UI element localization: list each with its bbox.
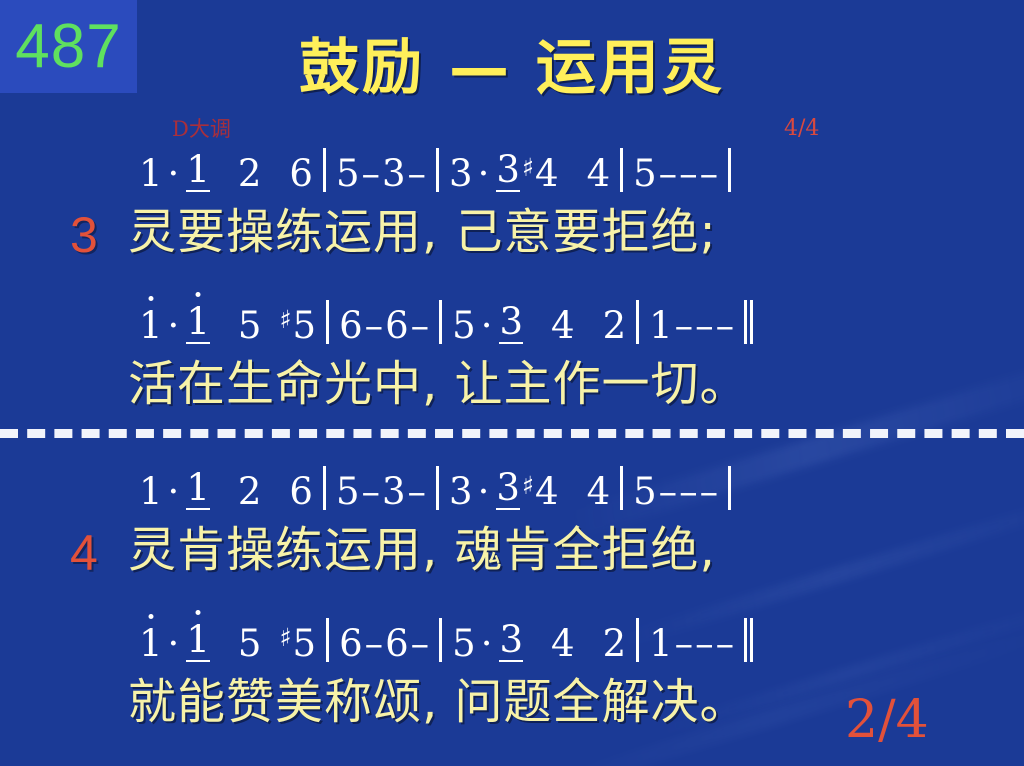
note-glyph: 3: [382, 155, 406, 192]
note: –: [678, 155, 699, 192]
measure: 5·342: [451, 621, 627, 662]
note: 3: [448, 155, 474, 192]
note: 5: [451, 307, 477, 344]
note-glyph: ·: [478, 155, 490, 192]
note: 4: [586, 155, 612, 192]
note: –: [699, 155, 720, 192]
barline: [620, 466, 623, 510]
note: 4: [550, 307, 576, 344]
measure: 5–––: [632, 155, 719, 192]
note-glyph: –: [716, 625, 735, 662]
note-glyph: –: [362, 155, 381, 192]
dot-separator: ·: [164, 625, 186, 662]
barline: [728, 148, 731, 192]
note-glyph: 3: [449, 473, 473, 510]
note: 3: [498, 621, 524, 662]
note-glyph: 6: [339, 307, 363, 344]
note-glyph: –: [679, 155, 698, 192]
note-glyph: 6: [339, 625, 363, 662]
note-glyph: 1: [649, 307, 673, 344]
note-glyph: 1: [139, 307, 163, 344]
barline: [636, 618, 639, 662]
barline: [326, 300, 329, 344]
barline: [439, 300, 442, 344]
note-glyph: –: [365, 307, 384, 344]
dot-separator: ·: [164, 307, 186, 344]
note-glyph: –: [659, 155, 678, 192]
note: 6: [338, 307, 364, 344]
note: 1: [138, 155, 164, 192]
note-glyph: –: [700, 155, 719, 192]
note: –: [407, 155, 428, 192]
measure: 6–6–: [338, 625, 430, 662]
measure: 3·3♯44: [448, 151, 611, 192]
hymn-slide: 487 鼓励 — 运用灵 D大调 4/4 2/4 1·1265–3–3·3♯44…: [0, 0, 1024, 766]
note-glyph: 4: [587, 155, 611, 192]
dot-separator: ·: [474, 473, 496, 510]
page-title: 鼓励 — 运用灵: [0, 38, 1024, 98]
note-glyph: –: [675, 625, 694, 662]
measure: 6–6–: [338, 307, 430, 344]
measure: 5–––: [632, 473, 719, 510]
note: –: [678, 473, 699, 510]
note: –: [407, 473, 428, 510]
time-signature: 4/4: [784, 116, 819, 141]
note-glyph: –: [659, 473, 678, 510]
note-glyph: –: [362, 473, 381, 510]
note: –: [694, 307, 715, 344]
note: ♯4: [521, 473, 560, 510]
note-glyph: 1: [139, 473, 163, 510]
barline: [326, 618, 329, 662]
note: 1: [185, 621, 211, 662]
final-barline: [744, 300, 753, 344]
note-glyph: 1: [186, 151, 210, 192]
note: –: [364, 307, 385, 344]
barline: [436, 148, 439, 192]
note: 1: [138, 473, 164, 510]
note-glyph: 6: [385, 625, 409, 662]
note-glyph: 4: [535, 155, 559, 192]
dot-separator: ·: [477, 625, 499, 662]
note: –: [361, 473, 382, 510]
note: 4: [586, 473, 612, 510]
note-glyph: –: [675, 307, 694, 344]
barline: [323, 466, 326, 510]
note-glyph: 1: [186, 303, 210, 344]
note-glyph: 5: [633, 473, 657, 510]
note-glyph: –: [408, 155, 427, 192]
note-glyph: 5: [238, 307, 262, 344]
note-glyph: 4: [551, 625, 575, 662]
note: –: [410, 307, 431, 344]
note-glyph: 5: [633, 155, 657, 192]
note: 2: [602, 307, 628, 344]
note: 5: [237, 625, 263, 662]
note-glyph: –: [716, 307, 735, 344]
note-glyph: 4: [535, 473, 559, 510]
dot-separator: ·: [474, 155, 496, 192]
note: –: [715, 307, 736, 344]
note-glyph: –: [411, 625, 430, 662]
note: 3: [495, 151, 521, 192]
note-glyph: ·: [478, 473, 490, 510]
note-glyph: ·: [481, 307, 493, 344]
note: 5: [335, 155, 361, 192]
note-glyph: ·: [481, 625, 493, 662]
lyric-line: 灵要操练运用, 己意要拒绝;: [128, 208, 717, 256]
note: –: [715, 625, 736, 662]
barline: [436, 466, 439, 510]
note-glyph: 5: [336, 473, 360, 510]
verse-divider: [0, 429, 1024, 438]
note-glyph: ·: [168, 307, 180, 344]
measure: 1·15♯5: [138, 303, 317, 344]
note-glyph: 3: [449, 155, 473, 192]
note-glyph: 2: [238, 155, 262, 192]
sharp-icon: ♯: [522, 153, 534, 182]
note-glyph: 5: [452, 625, 476, 662]
note-glyph: 3: [496, 151, 520, 192]
note-glyph: 3: [499, 303, 523, 344]
note-glyph: –: [700, 473, 719, 510]
note: 6: [384, 307, 410, 344]
note-glyph: –: [679, 473, 698, 510]
note-glyph: –: [408, 473, 427, 510]
note: –: [361, 155, 382, 192]
page-indicator: 2/4: [845, 694, 929, 746]
note: 4: [550, 625, 576, 662]
measure: 5–3–: [335, 155, 427, 192]
note-glyph: 1: [139, 625, 163, 662]
note-glyph: 4: [587, 473, 611, 510]
note: 1: [648, 307, 674, 344]
note-glyph: –: [365, 625, 384, 662]
verse-number: 3: [70, 210, 98, 260]
note: –: [658, 473, 679, 510]
note: –: [410, 625, 431, 662]
note: 2: [237, 155, 263, 192]
note: 1: [185, 303, 211, 344]
measure: 5·342: [451, 303, 627, 344]
note: –: [674, 307, 695, 344]
note: 1: [185, 469, 211, 510]
note-glyph: 3: [382, 473, 406, 510]
measure: 1·15♯5: [138, 621, 317, 662]
note: –: [699, 473, 720, 510]
barline: [439, 618, 442, 662]
note: 1: [648, 625, 674, 662]
note: 5: [632, 473, 658, 510]
note-glyph: 1: [649, 625, 673, 662]
sharp-icon: ♯: [279, 623, 291, 652]
note: –: [658, 155, 679, 192]
measure: 3·3♯44: [448, 469, 611, 510]
dot-separator: ·: [164, 155, 186, 192]
note: 6: [288, 473, 314, 510]
measure: 1·126: [138, 151, 314, 192]
note: 6: [384, 625, 410, 662]
note: 2: [602, 625, 628, 662]
note: –: [364, 625, 385, 662]
verse-number: 4: [70, 528, 98, 578]
note: 1: [185, 151, 211, 192]
key-signature: D大调: [172, 113, 231, 143]
note-glyph: –: [695, 625, 714, 662]
note-glyph: 5: [293, 307, 317, 344]
note-glyph: 5: [293, 625, 317, 662]
octave-dot-icon: [196, 292, 201, 297]
note-glyph: 4: [551, 307, 575, 344]
barline: [728, 466, 731, 510]
octave-dot-icon: [148, 614, 153, 619]
note-glyph: –: [695, 307, 714, 344]
octave-dot-icon: [196, 610, 201, 615]
barline: [620, 148, 623, 192]
note: –: [694, 625, 715, 662]
note-glyph: 2: [603, 625, 627, 662]
note-glyph: 1: [139, 155, 163, 192]
lyric-line: 就能赞美称颂, 问题全解决。: [128, 678, 749, 726]
note-glyph: 1: [186, 621, 210, 662]
notation-line: 1·1265–3–3·3♯445–––: [138, 148, 740, 192]
note: ♯5: [278, 307, 317, 344]
measure: 1–––: [648, 307, 735, 344]
lyric-line: 灵肯操练运用, 魂肯全拒绝,: [128, 526, 716, 574]
note: 1: [138, 625, 164, 662]
note-glyph: ·: [168, 625, 180, 662]
note: 3: [381, 473, 407, 510]
note-glyph: 3: [496, 469, 520, 510]
barline: [323, 148, 326, 192]
note-glyph: 5: [452, 307, 476, 344]
notation-line: 1·1265–3–3·3♯445–––: [138, 466, 740, 510]
note-glyph: 2: [603, 307, 627, 344]
note-glyph: 6: [289, 473, 313, 510]
note: ♯4: [521, 155, 560, 192]
note-glyph: ·: [168, 155, 180, 192]
note-glyph: 1: [186, 469, 210, 510]
note-glyph: 6: [289, 155, 313, 192]
measure: 1–––: [648, 625, 735, 662]
sharp-icon: ♯: [522, 471, 534, 500]
note: 3: [498, 303, 524, 344]
note: 2: [237, 473, 263, 510]
note: 6: [288, 155, 314, 192]
note-glyph: ·: [168, 473, 180, 510]
note: 6: [338, 625, 364, 662]
note: –: [674, 625, 695, 662]
note-glyph: 2: [238, 473, 262, 510]
note-glyph: 5: [238, 625, 262, 662]
final-barline: [744, 618, 753, 662]
note-glyph: 3: [499, 621, 523, 662]
dot-separator: ·: [477, 307, 499, 344]
note-glyph: 6: [385, 307, 409, 344]
note: 5: [335, 473, 361, 510]
note: 5: [632, 155, 658, 192]
note-glyph: –: [411, 307, 430, 344]
sharp-icon: ♯: [279, 305, 291, 334]
notation-line: 1·15♯56–6–5·3421–––: [138, 300, 762, 344]
note: 5: [237, 307, 263, 344]
barline: [636, 300, 639, 344]
measure: 5–3–: [335, 473, 427, 510]
measure: 1·126: [138, 469, 314, 510]
octave-dot-icon: [148, 296, 153, 301]
note: ♯5: [278, 625, 317, 662]
note: 3: [495, 469, 521, 510]
notation-line: 1·15♯56–6–5·3421–––: [138, 618, 762, 662]
note: 3: [448, 473, 474, 510]
lyric-line: 活在生命光中, 让主作一切。: [128, 360, 749, 408]
note: 1: [138, 307, 164, 344]
note: 5: [451, 625, 477, 662]
dot-separator: ·: [164, 473, 186, 510]
note-glyph: 5: [336, 155, 360, 192]
note: 3: [381, 155, 407, 192]
